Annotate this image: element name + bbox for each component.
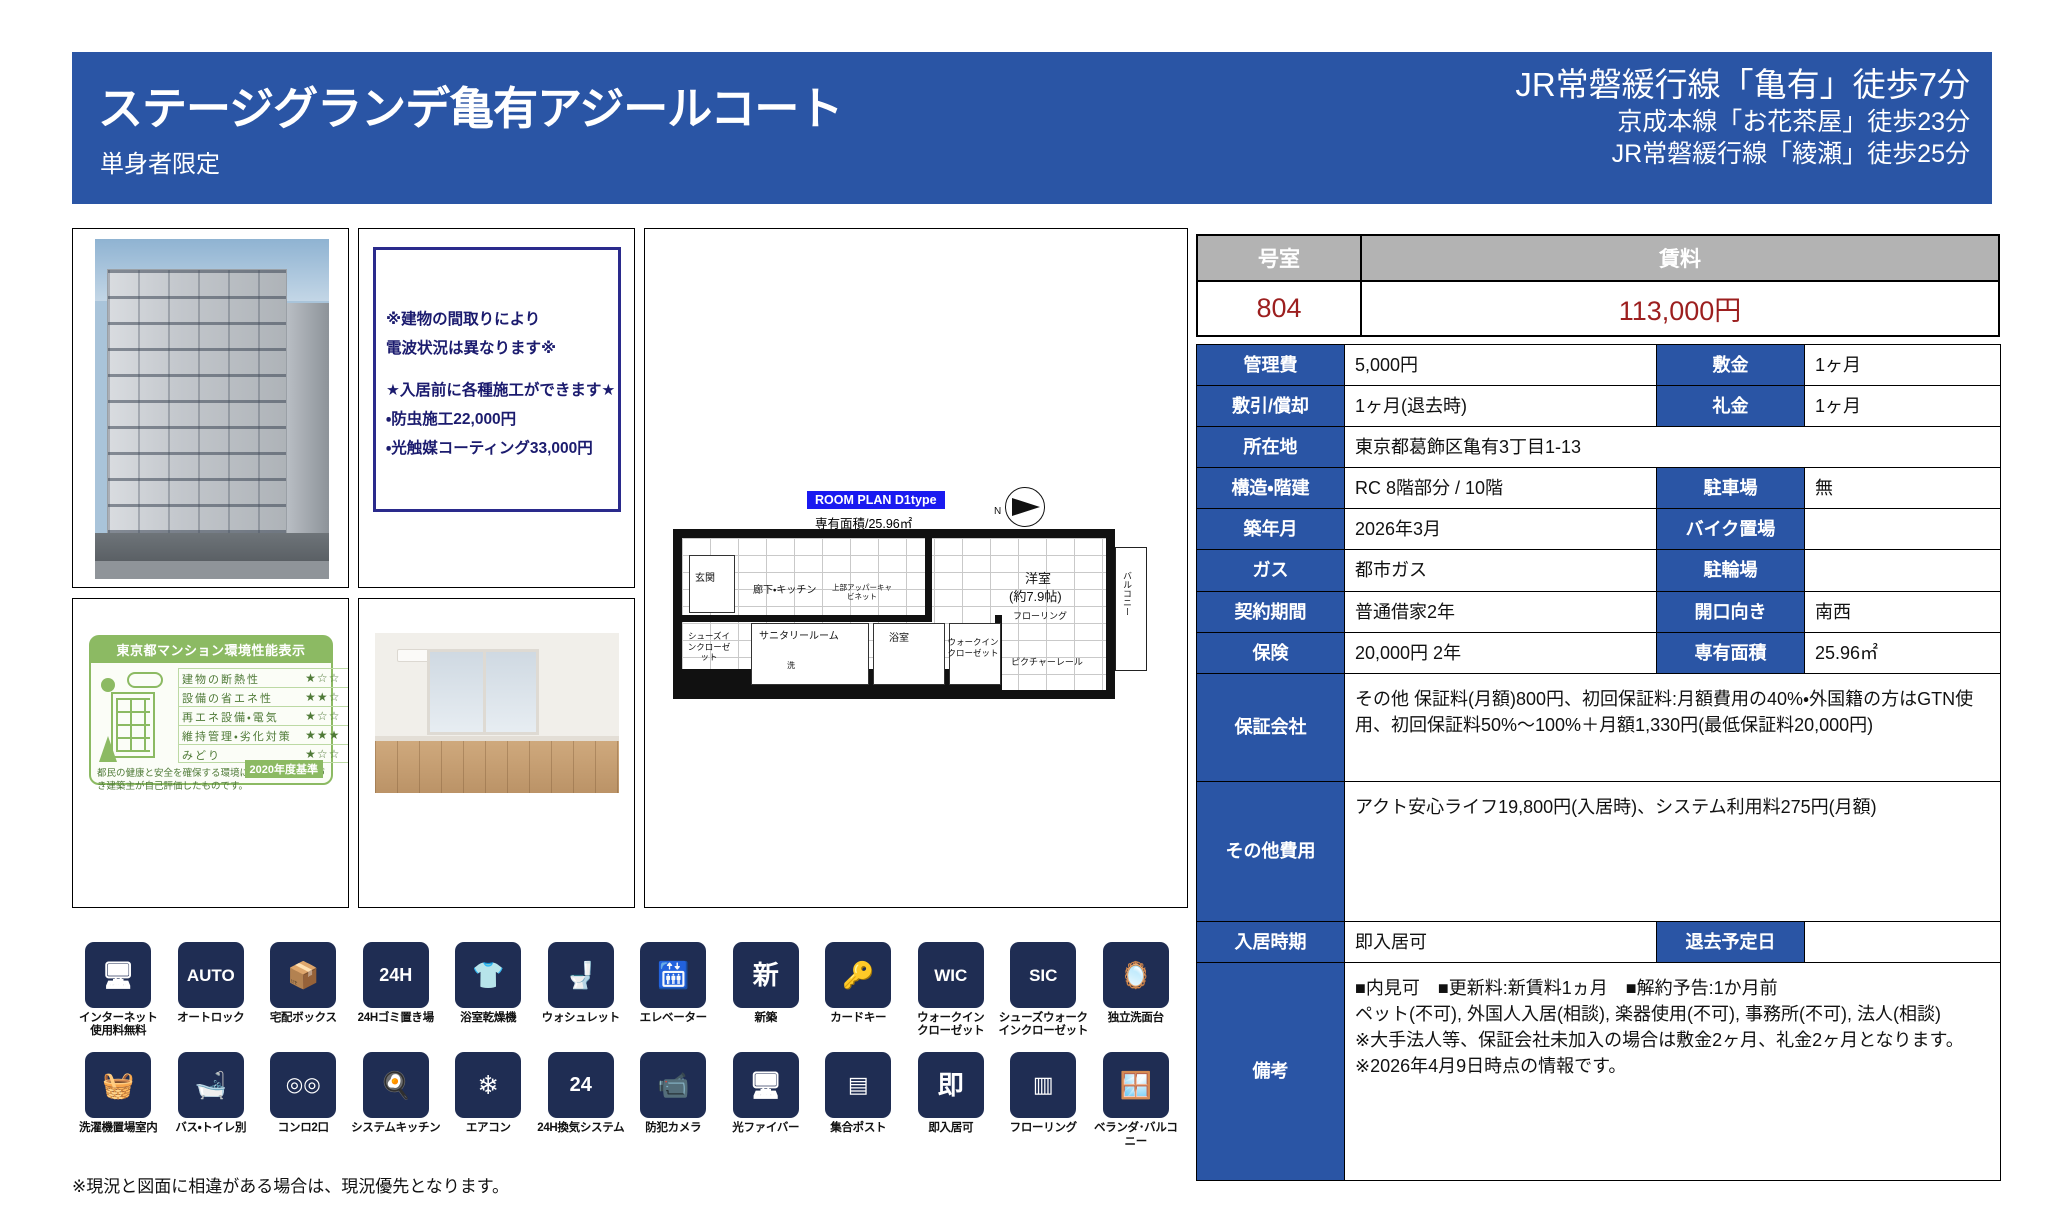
facility-label: 洗濯機置場室内: [72, 1122, 164, 1135]
compass-icon: N: [1005, 487, 1045, 527]
auto-lock-icon: AUTO: [178, 942, 244, 1008]
station-access-1: JR常磐緩行線「亀有」徒歩7分: [1515, 64, 1970, 106]
floor-plan-drawing: 玄関 廊下・キッチン 上部アッパーキャビネット サニタリールーム 浴室 洗 ウォ…: [673, 529, 1153, 699]
notice-text: ※建物の間取りにより 電波状況は異なります※ ★入居前に各種施工ができます★ ・…: [386, 306, 618, 463]
label-facing-direction: 開口向き: [1657, 591, 1805, 632]
label-management-fee: 管理費: [1197, 345, 1345, 386]
env-rating-stars: ★☆☆: [295, 669, 349, 687]
partition-wall: [925, 538, 932, 622]
facility-label: シューズウォークインクローゼット: [997, 1012, 1089, 1038]
air-conditioner-icon: ❄: [455, 1052, 521, 1118]
table-row: 構造・階建 RC 8階部分 / 10階 駐車場 無: [1197, 468, 2001, 509]
compass-north-label: N: [994, 506, 1001, 517]
facility-label: エレベーター: [627, 1012, 719, 1025]
environmental-performance-label: 東京都マンション環境性能表示 建物の断熱性 ★☆☆ 設備の省エネ性 ★★☆: [89, 635, 333, 785]
facility-icon-security-camera: 📹 防犯カメラ: [627, 1052, 720, 1148]
facility-icon-system-kitchen: 🍳 システムキッチン: [350, 1052, 443, 1148]
facility-icon-shoes-in-closet: SIC シューズウォークインクローゼット: [997, 942, 1090, 1038]
value-management-fee: 5,000円: [1345, 345, 1657, 386]
optical-fiber-icon: 🖥: [733, 1052, 799, 1118]
table-row: その他費用 アクト安心ライフ19,800円(入居時)、システム利用料275円(月…: [1197, 781, 2001, 921]
facility-label: ベランダ･バルコニー: [1090, 1122, 1182, 1148]
label-gas: ガス: [1197, 550, 1345, 591]
rent-header-rent: 賃料: [1361, 235, 1999, 281]
value-key-money: 1ヶ月: [1805, 386, 2001, 427]
facility-icon-bath-dryer: 👕 浴室乾燥機: [442, 942, 535, 1038]
veranda-balcony-icon: 🪟: [1103, 1052, 1169, 1118]
floor-plan-panel: ROOM PLAN D1type 専有面積/25.96㎡ N 玄関 廊下・キッチ…: [644, 228, 1188, 908]
independent-washstand-icon: 🪞: [1103, 942, 1169, 1008]
header-subtitle: 単身者限定: [100, 144, 220, 179]
room-photo-image: [375, 633, 619, 793]
env-rating-row: 維持管理・劣化対策 ★★★: [178, 725, 349, 744]
trash-24h-icon: 24H: [363, 942, 429, 1008]
facility-label: 集合ポスト: [812, 1122, 904, 1135]
floor-plan-tag: ROOM PLAN D1type: [807, 491, 945, 509]
card-key-icon: 🔑: [825, 942, 891, 1008]
road-region: [95, 561, 329, 579]
facility-icon-delivery-box: 📦 宅配ボックス: [257, 942, 350, 1038]
label-contract-term: 契約期間: [1197, 591, 1345, 632]
value-remarks: ■内見可 ■更新料:新賃料1ヵ月 ■解約予告:1か月前 ペット(不可), 外国人…: [1345, 962, 2001, 1180]
security-camera-icon: 📹: [640, 1052, 706, 1118]
value-moveout-date: [1805, 921, 2001, 962]
env-rating-name: 維持管理・劣化対策: [179, 726, 295, 744]
notice-line-2: 電波状況は異なります※: [386, 335, 618, 364]
facility-label: システムキッチン: [350, 1122, 442, 1135]
table-row: 築年月 2026年3月 バイク置場: [1197, 509, 2001, 550]
table-row: ガス 都市ガス 駐輪場: [1197, 550, 2001, 591]
value-guarantor-company: その他 保証料(月額)800円、初回保証料:月額費用の40%・外国籍の方はGTN…: [1345, 673, 2001, 781]
facility-label: インターネット使用料無料: [72, 1012, 164, 1038]
facility-label: 防犯カメラ: [627, 1122, 719, 1135]
facility-icon-internet-free: 🖥 インターネット使用料無料: [72, 942, 165, 1038]
facility-label: 独立洗面台: [1090, 1012, 1182, 1025]
table-row: 保証会社 その他 保証料(月額)800円、初回保証料:月額費用の40%・外国籍の…: [1197, 673, 2001, 781]
tree-icon: [99, 736, 117, 762]
ventilation-24h-icon: 24: [548, 1052, 614, 1118]
facility-icon-trash-24h: 24H 24Hゴミ置き場: [350, 942, 443, 1038]
new-build-icon: 新: [733, 942, 799, 1008]
facility-icon-card-key: 🔑 カードキー: [812, 942, 905, 1038]
env-rating-stars: ★★☆: [295, 688, 349, 706]
label-flooring: フローリング: [1013, 611, 1067, 622]
elevator-icon: 🛗: [640, 942, 706, 1008]
cloud-icon: [127, 672, 163, 688]
room-window: [427, 649, 539, 735]
env-label-body: 建物の断熱性 ★☆☆ 設備の省エネ性 ★★☆ 再エネ設備・電気 ★☆☆ 維持管理…: [91, 663, 331, 764]
label-guarantor-company: 保証会社: [1197, 673, 1345, 781]
room-flooring: [375, 741, 619, 793]
property-flyer: ステージグランデ亀有アジールコート 単身者限定 JR常磐緩行線「亀有」徒歩7分 …: [0, 0, 2056, 1220]
facility-icon-flooring: ▥ フローリング: [997, 1052, 1090, 1148]
facility-label: 新築: [720, 1012, 812, 1025]
label-built-date: 築年月: [1197, 509, 1345, 550]
label-western-room: 洋室: [1025, 571, 1051, 587]
building-facade: [107, 269, 287, 559]
bathroom-area: [873, 623, 945, 685]
facility-icon-independent-washstand: 🪞 独立洗面台: [1090, 942, 1183, 1038]
rent-table-header-row: 号室 賃料: [1197, 235, 1999, 281]
remarks-line-4: ※2026年4月9日時点の情報です。: [1355, 1053, 1990, 1079]
label-structure: 構造・階建: [1197, 468, 1345, 509]
system-kitchen-icon: 🍳: [363, 1052, 429, 1118]
disclaimer-text: ※現況と図面に相違がある場合は、現況優先となります。: [72, 1172, 509, 1197]
facility-icon-veranda-balcony: 🪟 ベランダ･バルコニー: [1090, 1052, 1183, 1148]
env-rating-name: 再エネ設備・電気: [179, 707, 295, 725]
value-contract-term: 普通借家2年: [1345, 591, 1657, 632]
facility-label: フローリング: [997, 1122, 1089, 1135]
value-exclusive-area: 25.96㎡: [1805, 632, 2001, 673]
two-burner-stove-icon: ◎◎: [270, 1052, 336, 1118]
env-rating-stars: ★☆☆: [295, 707, 349, 725]
facility-label: バス・トイレ別: [165, 1122, 257, 1135]
facility-icon-mailbox: ▤ 集合ポスト: [812, 1052, 905, 1148]
label-corridor-kitchen: 廊下・キッチン: [753, 585, 816, 598]
notice-panel: ※建物の間取りにより 電波状況は異なります※ ★入居前に各種施工ができます★ ・…: [358, 228, 635, 588]
value-parking: 無: [1805, 468, 2001, 509]
facility-label: 24Hゴミ置き場: [350, 1012, 442, 1025]
flooring-icon: ▥: [1010, 1052, 1076, 1118]
label-picture-rail: ピクチャーレール: [1011, 657, 1083, 668]
label-exclusive-area: 専有面積: [1657, 632, 1805, 673]
label-deposit: 敷金: [1657, 345, 1805, 386]
value-bicycle-parking: [1805, 550, 2001, 591]
station-access-2: 京成本線「お花茶屋」徒歩23分: [1515, 106, 1970, 138]
facility-icon-air-conditioner: ❄ エアコン: [442, 1052, 535, 1148]
facility-label: オートロック: [165, 1012, 257, 1025]
env-label-title: 東京都マンション環境性能表示: [91, 637, 331, 663]
facility-icon-walk-in-closet: WIC ウォークインクローゼット: [905, 942, 998, 1038]
label-other-fees: その他費用: [1197, 781, 1345, 921]
facility-label: 24H換気システム: [535, 1122, 627, 1135]
bath-dryer-icon: 👕: [455, 942, 521, 1008]
rent-value: 113,000円: [1361, 281, 1999, 336]
env-label-standard: 2020年度基準: [245, 760, 323, 778]
table-row: 備考 ■内見可 ■更新料:新賃料1ヵ月 ■解約予告:1か月前 ペット(不可), …: [1197, 962, 2001, 1180]
facility-icon-optical-fiber: 🖥 光ファイバー: [720, 1052, 813, 1148]
label-key-money: 礼金: [1657, 386, 1805, 427]
facility-icon-immediate-movein: 即 即入居可: [905, 1052, 998, 1148]
value-bike-parking: [1805, 509, 2001, 550]
facility-icon-elevator: 🛗 エレベーター: [627, 942, 720, 1038]
environmental-performance-panel: 東京都マンション環境性能表示 建物の断熱性 ★☆☆ 設備の省エネ性 ★★☆: [72, 598, 349, 908]
value-other-fees: アクト安心ライフ19,800円(入居時)、システム利用料275円(月額): [1345, 781, 2001, 921]
label-bicycle-parking: 駐輪場: [1657, 550, 1805, 591]
env-rating-name: 建物の断熱性: [179, 669, 295, 687]
label-entrance: 玄関: [695, 573, 715, 586]
notice-line-1: ※建物の間取りにより: [386, 306, 618, 335]
label-bike-parking: バイク置場: [1657, 509, 1805, 550]
env-rating-rows: 建物の断熱性 ★☆☆ 設備の省エネ性 ★★☆ 再エネ設備・電気 ★☆☆ 維持管理…: [178, 668, 349, 764]
remarks-line-3: ※大手法人等、保証会社未加入の場合は敷金2ヶ月、礼金2ヶ月となります。: [1355, 1027, 1990, 1053]
value-structure: RC 8階部分 / 10階: [1345, 468, 1657, 509]
facility-label: 浴室乾燥機: [442, 1012, 534, 1025]
property-detail-table: 管理費 5,000円 敷金 1ヶ月 敷引/償却 1ヶ月(退去時) 礼金 1ヶ月 …: [1196, 344, 2001, 1181]
notice-inner-frame: ※建物の間取りにより 電波状況は異なります※ ★入居前に各種施工ができます★ ・…: [373, 247, 621, 512]
facility-icon-ventilation-24h: 24 24H換気システム: [535, 1052, 628, 1148]
internet-free-icon: 🖥: [85, 942, 151, 1008]
notice-line-4: ・防虫施工22,000円: [386, 406, 618, 435]
label-remarks: 備考: [1197, 962, 1345, 1180]
value-insurance: 20,000円 2年: [1345, 632, 1657, 673]
facility-label: ウォークインクローゼット: [905, 1012, 997, 1038]
env-rating-row: 建物の断熱性 ★☆☆: [178, 668, 349, 687]
label-moveout-date: 退去予定日: [1657, 921, 1805, 962]
label-balcony: バルコニー: [1121, 571, 1134, 616]
facility-label: ウォシュレット: [535, 1012, 627, 1025]
facility-icon-two-burner-stove: ◎◎ コンロ2口: [257, 1052, 350, 1148]
building-photo-image: [95, 239, 329, 579]
facility-icon-washer-indoor: 🧺 洗濯機置場室内: [72, 1052, 165, 1148]
label-sanitary-room: サニタリールーム: [759, 631, 839, 644]
facility-icon-row-2: 🧺 洗濯機置場室内 🛁 バス・トイレ別 ◎◎ コンロ2口 🍳 システムキッチン …: [72, 1052, 1182, 1148]
shoes-in-closet-icon: SIC: [1010, 942, 1076, 1008]
rent-summary-table: 号室 賃料 804 113,000円: [1196, 234, 2000, 337]
building-side-wall: [287, 303, 329, 559]
station-access-3: JR常磐緩行線「綾瀬」徒歩25分: [1515, 138, 1970, 170]
value-gas: 都市ガス: [1345, 550, 1657, 591]
immediate-movein-icon: 即: [918, 1052, 984, 1118]
table-row: 敷引/償却 1ヶ月(退去時) 礼金 1ヶ月: [1197, 386, 2001, 427]
facility-icon-bath-toilet-separate: 🛁 バス・トイレ別: [165, 1052, 258, 1148]
label-upper-cabinet: 上部アッパーキャビネット: [831, 583, 893, 602]
table-row: 所在地 東京都葛飾区亀有3丁目1-13: [1197, 427, 2001, 468]
mailbox-icon: ▤: [825, 1052, 891, 1118]
washlet-icon: 🚽: [548, 942, 614, 1008]
env-rating-stars: ★★★: [295, 726, 349, 744]
delivery-box-icon: 📦: [270, 942, 336, 1008]
value-deduction: 1ヶ月(退去時): [1345, 386, 1657, 427]
value-built-date: 2026年3月: [1345, 509, 1657, 550]
walk-in-closet-icon: WIC: [918, 942, 984, 1008]
label-walk-in-closet: ウォークインクローゼット: [945, 637, 1001, 658]
apartment-icon: [111, 692, 155, 758]
table-row: 保険 20,000円 2年 専有面積 25.96㎡: [1197, 632, 2001, 673]
label-movein-date: 入居時期: [1197, 921, 1345, 962]
page-title: ステージグランデ亀有アジールコート: [98, 72, 842, 137]
bath-toilet-separate-icon: 🛁: [178, 1052, 244, 1118]
rent-header-room: 号室: [1197, 235, 1361, 281]
rent-table-value-row: 804 113,000円: [1197, 281, 1999, 336]
value-deposit: 1ヶ月: [1805, 345, 2001, 386]
label-western-room-size: (約7.9帖): [1009, 589, 1062, 605]
header-banner: ステージグランデ亀有アジールコート 単身者限定 JR常磐緩行線「亀有」徒歩7分 …: [72, 52, 1992, 204]
station-access-list: JR常磐緩行線「亀有」徒歩7分 京成本線「お花茶屋」徒歩23分 JR常磐緩行線「…: [1515, 64, 1970, 170]
env-rating-name: 設備の省エネ性: [179, 688, 295, 706]
room-number-value: 804: [1197, 281, 1361, 336]
table-row: 契約期間 普通借家2年 開口向き 南西: [1197, 591, 2001, 632]
label-parking: 駐車場: [1657, 468, 1805, 509]
label-address: 所在地: [1197, 427, 1345, 468]
notice-line-3: ★入居前に各種施工ができます★: [386, 377, 618, 406]
facility-label: 光ファイバー: [720, 1122, 812, 1135]
table-row: 管理費 5,000円 敷金 1ヶ月: [1197, 345, 2001, 386]
facility-label: 即入居可: [905, 1122, 997, 1135]
washer-indoor-icon: 🧺: [85, 1052, 151, 1118]
label-insurance: 保険: [1197, 632, 1345, 673]
facility-label: 宅配ボックス: [257, 1012, 349, 1025]
facility-label: エアコン: [442, 1122, 534, 1135]
label-bathroom: 浴室: [889, 633, 909, 646]
facility-icon-grid: 🖥 インターネット使用料無料 AUTO オートロック 📦 宅配ボックス 24H …: [72, 942, 1182, 1149]
label-washer: 洗: [787, 661, 795, 671]
env-rating-row: 設備の省エネ性 ★★☆: [178, 687, 349, 706]
partition-wall: [682, 615, 932, 622]
label-shoes-in-closet: シューズインクローゼット: [685, 631, 733, 663]
facility-icon-auto-lock: AUTO オートロック: [165, 942, 258, 1038]
notice-spacer: [386, 363, 618, 377]
facility-icon-new-build: 新 新築: [720, 942, 813, 1038]
table-row: 入居時期 即入居可 退去予定日: [1197, 921, 2001, 962]
remarks-line-1: ■内見可 ■更新料:新賃料1ヵ月 ■解約予告:1か月前: [1355, 975, 1990, 1001]
building-illustration-icon: [97, 668, 173, 764]
room-interior-photo: [358, 598, 635, 908]
remarks-line-2: ペット(不可), 外国人入居(相談), 楽器使用(不可), 事務所(不可), 法…: [1355, 1001, 1990, 1027]
sun-icon: [101, 678, 115, 692]
env-rating-row: 再エネ設備・電気 ★☆☆: [178, 706, 349, 725]
facility-icon-washlet: 🚽 ウォシュレット: [535, 942, 628, 1038]
facility-label: コンロ2口: [257, 1122, 349, 1135]
value-movein-date: 即入居可: [1345, 921, 1657, 962]
facility-label: カードキー: [812, 1012, 904, 1025]
value-facing-direction: 南西: [1805, 591, 2001, 632]
facility-icon-row-1: 🖥 インターネット使用料無料 AUTO オートロック 📦 宅配ボックス 24H …: [72, 942, 1182, 1038]
value-address: 東京都葛飾区亀有3丁目1-13: [1345, 427, 2001, 468]
building-exterior-photo: [72, 228, 349, 588]
label-deduction: 敷引/償却: [1197, 386, 1345, 427]
notice-line-5: ・光触媒コーティング33,000円: [386, 435, 618, 464]
